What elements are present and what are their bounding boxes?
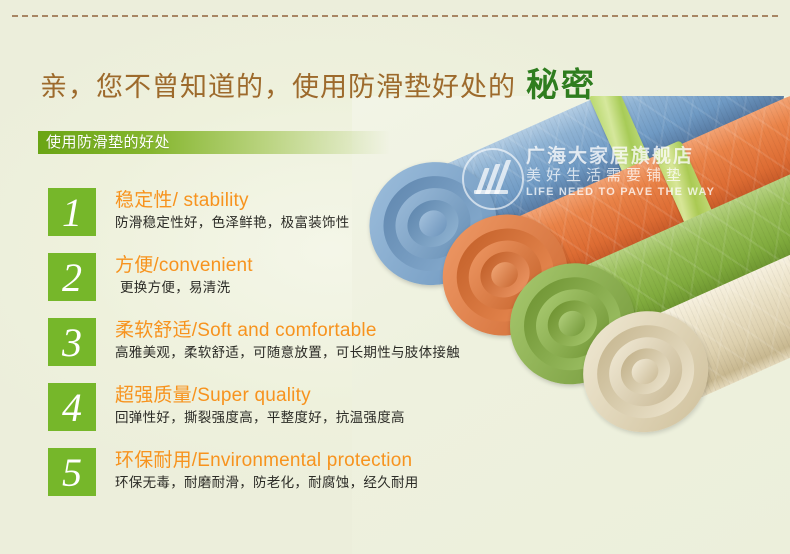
benefit-list: 1 稳定性/ stability 防滑稳定性好，色泽鲜艳，极富装饰性 2 方便/…	[48, 188, 528, 513]
benefit-title: 超强质量/Super quality	[115, 383, 405, 408]
page-title-emphasis: 秘密	[526, 66, 596, 103]
benefit-item: 5 环保耐用/Environmental protection 环保无毒，耐磨耐…	[48, 448, 528, 513]
benefit-item: 4 超强质量/Super quality 回弹性好，撕裂强度高，平整度好，抗温强…	[48, 383, 528, 448]
benefit-number: 5	[48, 448, 96, 496]
page-title: 亲，您不曾知道的，使用防滑垫好处的秘密	[40, 68, 596, 104]
benefit-number: 1	[48, 188, 96, 236]
benefit-number-badge: 3	[48, 318, 96, 366]
benefit-body: 稳定性/ stability 防滑稳定性好，色泽鲜艳，极富装饰性	[115, 188, 350, 233]
benefit-body: 方便/convenient 更换方便，易清洗	[115, 253, 253, 298]
benefit-number-badge: 5	[48, 448, 96, 496]
section-header-label: 使用防滑垫的好处	[46, 133, 170, 152]
promo-page: 广海大家居旗舰店 美好生活需要铺垫 LIFE NEED TO PAVE THE …	[0, 0, 790, 554]
benefit-desc: 更换方便，易清洗	[115, 278, 253, 298]
section-header-bar: 使用防滑垫的好处	[38, 131, 390, 154]
benefit-item: 3 柔软舒适/Soft and comfortable 高雅美观，柔软舒适，可随…	[48, 318, 528, 383]
benefit-body: 柔软舒适/Soft and comfortable 高雅美观，柔软舒适，可随意放…	[115, 318, 460, 363]
page-title-lead: 亲，您不曾知道的，使用防滑垫好处的	[40, 72, 516, 102]
benefit-number: 2	[48, 253, 96, 301]
benefit-number-badge: 4	[48, 383, 96, 431]
benefit-body: 超强质量/Super quality 回弹性好，撕裂强度高，平整度好，抗温强度高	[115, 383, 405, 428]
benefit-item: 1 稳定性/ stability 防滑稳定性好，色泽鲜艳，极富装饰性	[48, 188, 528, 253]
benefit-title: 柔软舒适/Soft and comfortable	[115, 318, 460, 343]
benefit-body: 环保耐用/Environmental protection 环保无毒，耐磨耐滑，…	[115, 448, 419, 493]
benefit-title: 稳定性/ stability	[115, 188, 350, 213]
benefit-number: 3	[48, 318, 96, 366]
benefit-number-badge: 1	[48, 188, 96, 236]
benefit-desc: 防滑稳定性好，色泽鲜艳，极富装饰性	[115, 213, 350, 233]
benefit-desc: 高雅美观，柔软舒适，可随意放置，可长期性与肢体接触	[115, 343, 460, 363]
benefit-number-badge: 2	[48, 253, 96, 301]
benefit-desc: 回弹性好，撕裂强度高，平整度好，抗温强度高	[115, 408, 405, 428]
benefit-number: 4	[48, 383, 96, 431]
benefit-item: 2 方便/convenient 更换方便，易清洗	[48, 253, 528, 318]
benefit-title: 环保耐用/Environmental protection	[115, 448, 419, 473]
top-dashed-divider	[12, 15, 778, 17]
benefit-desc: 环保无毒，耐磨耐滑，防老化，耐腐蚀，经久耐用	[115, 473, 419, 493]
benefit-title: 方便/convenient	[115, 253, 253, 278]
